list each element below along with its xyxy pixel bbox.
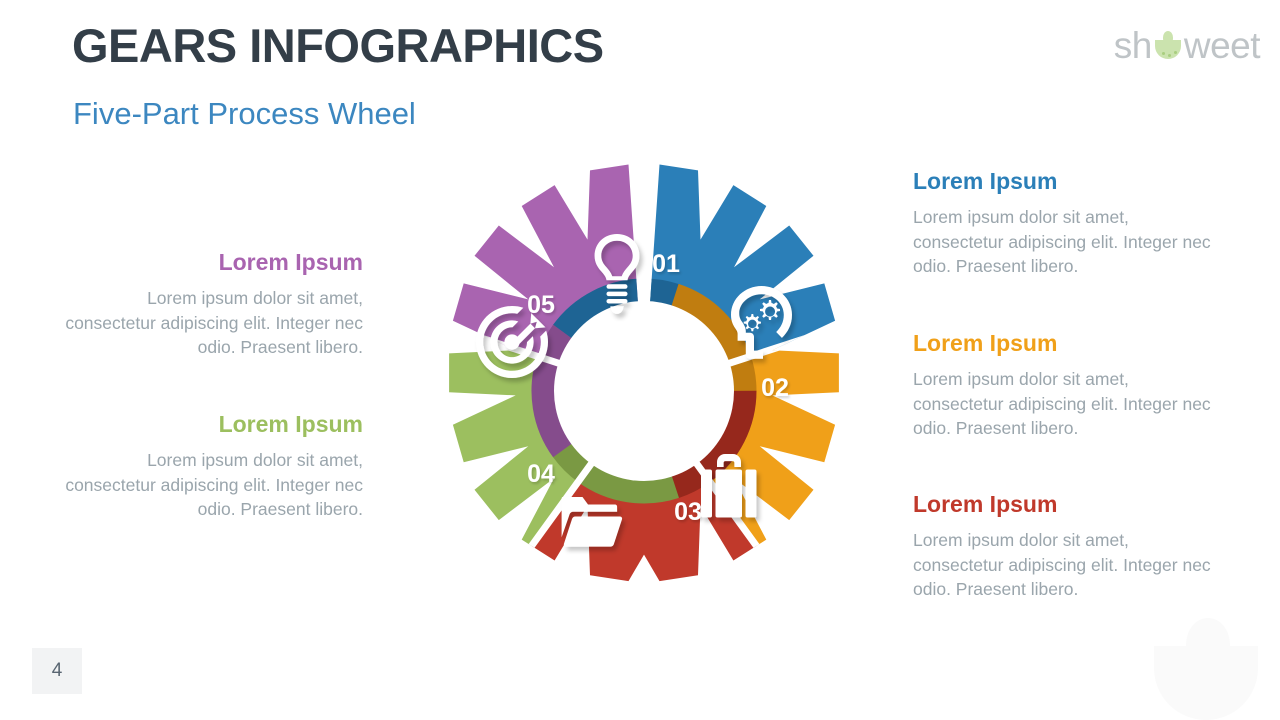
gear-number-03: 03 <box>674 498 702 526</box>
text-block-02: Lorem Ipsum Lorem ipsum dolor sit amet, … <box>913 329 1213 441</box>
text-block-01-body: Lorem ipsum dolor sit amet, consectetur … <box>913 205 1213 280</box>
gear-process-wheel: 01 02 03 04 05 <box>398 156 890 626</box>
background-watermark-icon <box>1144 600 1274 720</box>
page-title: GEARS INFOGRAPHICS <box>72 20 604 72</box>
gear-number-04: 04 <box>527 460 555 488</box>
text-block-04: Lorem Ipsum Lorem ipsum dolor sit amet, … <box>63 410 363 522</box>
text-block-02-body: Lorem ipsum dolor sit amet, consectetur … <box>913 367 1213 442</box>
text-block-03-title: Lorem Ipsum <box>913 490 1213 519</box>
gear-number-02: 02 <box>761 374 789 402</box>
text-block-05-title: Lorem Ipsum <box>63 248 363 277</box>
page-number-badge: 4 <box>32 648 82 694</box>
text-block-05-body: Lorem ipsum dolor sit amet, consectetur … <box>63 286 363 361</box>
text-block-05: Lorem Ipsum Lorem ipsum dolor sit amet, … <box>63 248 363 360</box>
showeet-bowl-icon <box>1153 28 1183 62</box>
text-block-03-body: Lorem ipsum dolor sit amet, consectetur … <box>913 528 1213 603</box>
text-block-03: Lorem Ipsum Lorem ipsum dolor sit amet, … <box>913 490 1213 602</box>
gear-center-hub <box>554 301 734 481</box>
text-block-01: Lorem Ipsum Lorem ipsum dolor sit amet, … <box>913 167 1213 279</box>
logo-text-before: sh <box>1114 27 1152 64</box>
showeet-logo: sh weet <box>1114 22 1260 68</box>
text-block-04-body: Lorem ipsum dolor sit amet, consectetur … <box>63 448 363 523</box>
text-block-01-title: Lorem Ipsum <box>913 167 1213 196</box>
page-subtitle: Five-Part Process Wheel <box>73 95 416 132</box>
text-block-02-title: Lorem Ipsum <box>913 329 1213 358</box>
gear-number-01: 01 <box>652 250 680 278</box>
text-block-04-title: Lorem Ipsum <box>63 410 363 439</box>
logo-text-after: weet <box>1184 27 1260 64</box>
